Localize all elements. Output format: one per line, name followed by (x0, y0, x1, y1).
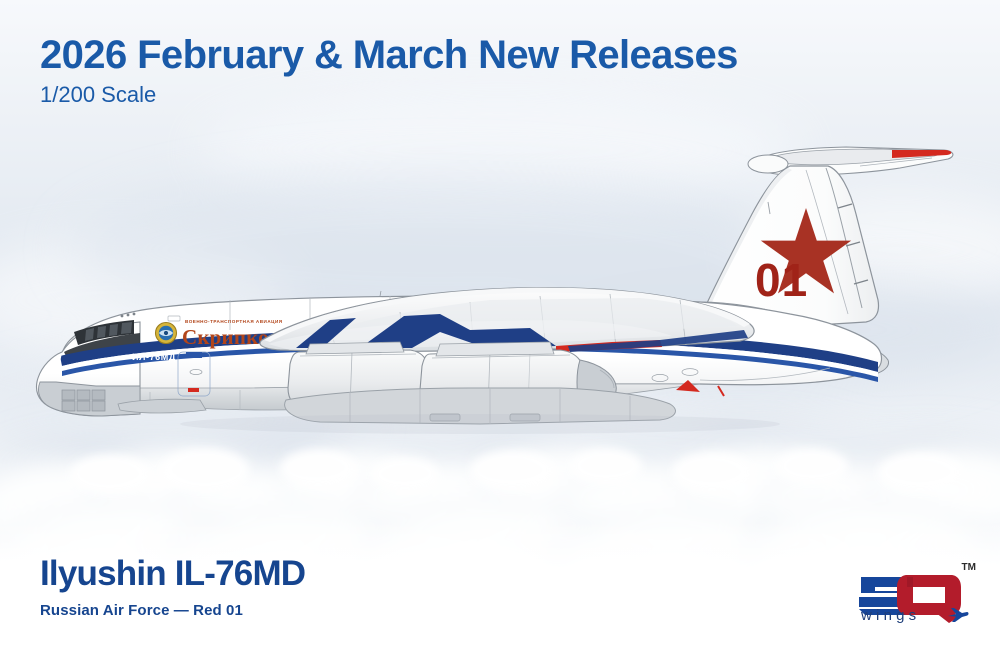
logo-wordmark: wings (861, 607, 920, 624)
horizontal-stabilizer (748, 147, 953, 175)
header-block: 2026 February & March New Releases 1/200… (40, 34, 738, 108)
fuselage-type-text: ИЛ-76МД (132, 352, 176, 362)
sq-logo-mark (855, 563, 975, 635)
operator-line: Russian Air Force — Red 01 (40, 602, 305, 619)
trademark-symbol: TM (962, 562, 976, 573)
airplane-icon (947, 607, 969, 623)
nose-supertitle: ВОЕННО-ТРАНСПОРТНАЯ АВИАЦИЯ (185, 319, 283, 324)
release-poster: 01 (0, 0, 1000, 667)
unit-crest-icon (156, 323, 177, 344)
svg-text:01: 01 (755, 254, 808, 306)
nose-title: Скрипко (182, 325, 269, 349)
brand-logo: TM wings (855, 563, 975, 635)
vertical-fin: 01 (700, 166, 879, 326)
footer-block: Ilyushin IL-76MD Russian Air Force — Red… (40, 556, 305, 619)
scale-subtitle: 1/200 Scale (40, 82, 738, 108)
tail-code: 01 (755, 254, 808, 306)
release-title: 2026 February & March New Releases (40, 34, 738, 76)
model-name: Ilyushin IL-76MD (40, 556, 305, 593)
